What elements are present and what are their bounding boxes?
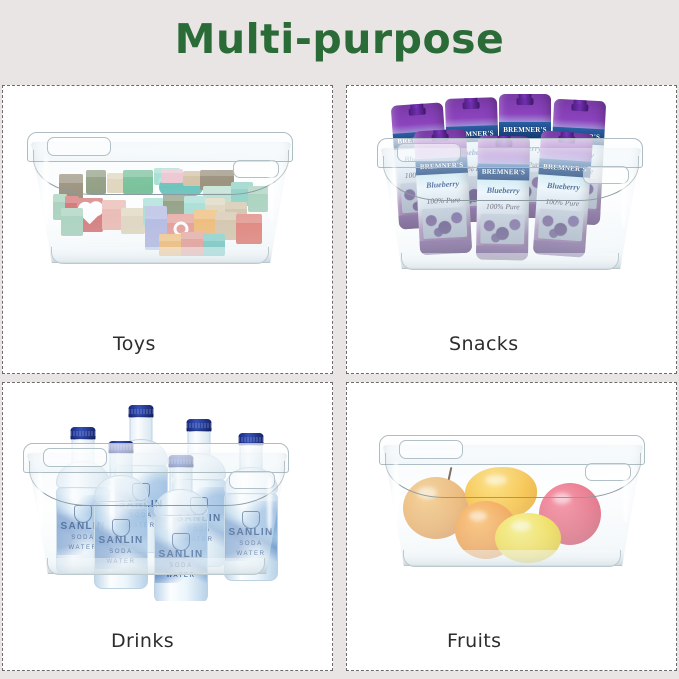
drinks-photo: SANLIN SODA WATER	[3, 383, 332, 601]
pouch-cap	[573, 99, 587, 107]
quadrant-grid: Toys BREMNER'S Blueberry 100% Pure	[2, 85, 677, 671]
bin-glint	[43, 156, 49, 226]
bin-front-lip	[51, 247, 269, 264]
pouch-cap	[432, 129, 446, 137]
bin-front-curve	[385, 453, 641, 498]
fruits-photo	[347, 383, 676, 601]
bin-glint	[621, 170, 626, 228]
bin-glint	[393, 461, 399, 527]
bin-glint	[267, 477, 272, 531]
quadrant-snacks: BREMNER'S Blueberry 100% Pure BREMNER'S …	[346, 85, 677, 374]
bin-front-lip	[401, 253, 619, 270]
infographic-page: Multi-purpose	[0, 0, 679, 679]
pouch-cap	[409, 102, 424, 110]
quadrant-label-drinks: Drinks	[111, 630, 174, 652]
toys-photo	[3, 86, 332, 304]
storage-bin-drinks: SANLIN SODA WATER	[21, 427, 291, 577]
storage-bin-toys	[25, 116, 295, 266]
pouch-cap	[519, 94, 532, 100]
storage-bin-snacks: BREMNER'S Blueberry 100% Pure BREMNER'S …	[375, 122, 645, 272]
quadrant-label-fruits: Fruits	[447, 630, 501, 652]
storage-bin-fruits	[377, 419, 647, 569]
pouch-cap	[464, 97, 478, 104]
quadrant-label-toys: Toys	[113, 333, 156, 355]
bin-front-lip	[403, 550, 621, 567]
bin-glint	[37, 473, 43, 533]
bin-glint	[623, 465, 628, 523]
bin-front-curve	[33, 150, 289, 195]
bin-glint	[269, 160, 274, 222]
bin-front-curve	[383, 156, 639, 201]
page-title: Multi-purpose	[175, 19, 505, 66]
quadrant-toys: Toys	[2, 85, 333, 374]
quadrant-fruits: Fruits	[346, 382, 677, 671]
header-band: Multi-purpose	[0, 0, 679, 85]
quadrant-label-snacks: Snacks	[449, 333, 519, 355]
bin-front-lip	[47, 558, 265, 575]
quadrant-drinks: SANLIN SODA WATER	[2, 382, 333, 671]
snacks-photo: BREMNER'S Blueberry 100% Pure BREMNER'S …	[347, 86, 676, 304]
bin-front-curve	[29, 461, 285, 506]
bin-glint	[391, 166, 397, 232]
